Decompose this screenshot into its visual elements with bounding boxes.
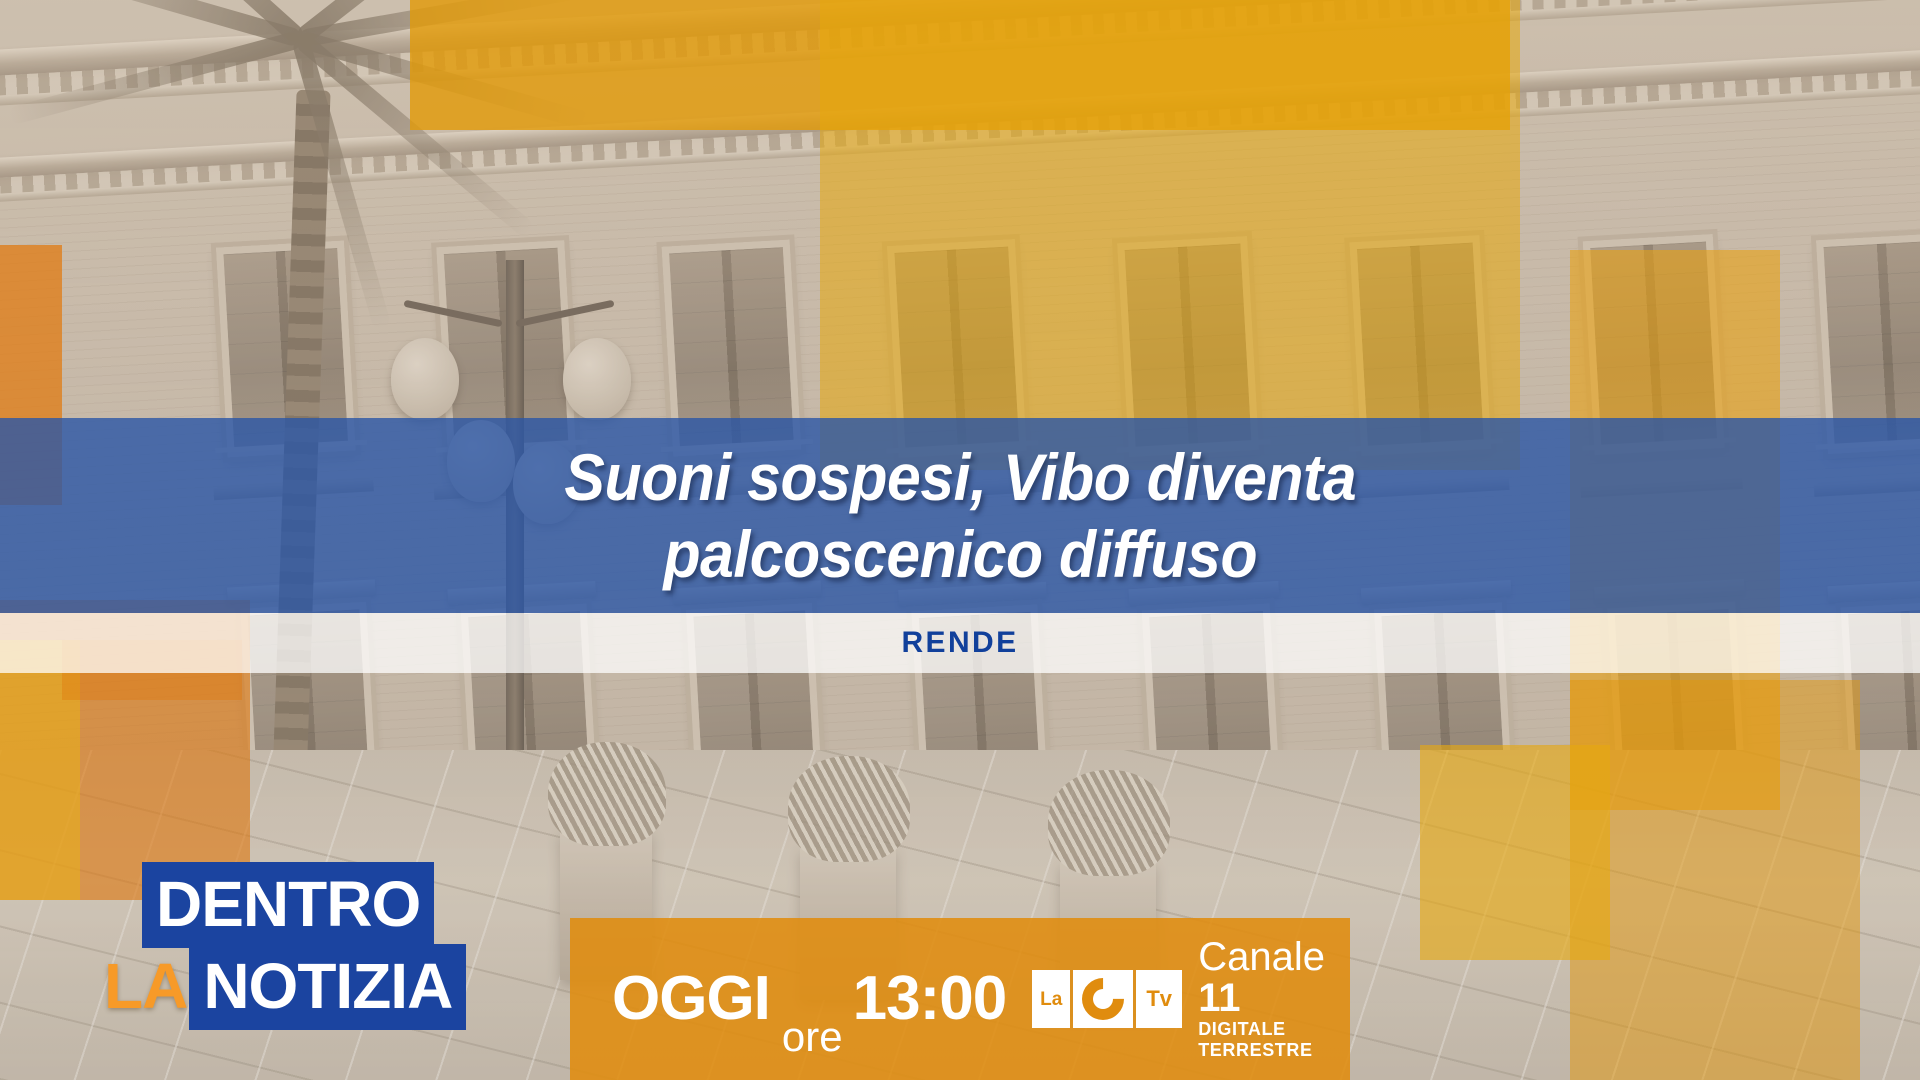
logo-word-notizia: NOTIZIA (189, 944, 466, 1030)
network-logo-c-icon (1073, 969, 1132, 1028)
channel-info: Canale 11 DIGITALE TERRESTRE (1198, 937, 1350, 1062)
planter-bush (788, 756, 910, 862)
location-band: RENDE (0, 613, 1920, 673)
headline-banner: Suoni sospesi, Vibo diventa palcoscenico… (0, 418, 1920, 613)
channel-number: 11 (1198, 976, 1240, 1020)
logo-row-bottom: LA NOTIZIA (104, 944, 466, 1030)
network-logo-la-box: La (1032, 970, 1070, 1028)
location-label: RENDE (901, 626, 1018, 660)
schedule-bar: OGGI ore 13:00 La Tv Canale 11 DIG (570, 918, 1350, 1080)
headline-line-2: palcoscenico diffuso (564, 516, 1356, 593)
channel-subtitle: DIGITALE TERRESTRE (1198, 1019, 1350, 1061)
network-logo-c-box (1073, 970, 1133, 1028)
headline-line-1: Suoni sospesi, Vibo diventa (564, 439, 1356, 516)
channel-name: Canale (1198, 935, 1325, 979)
logo-word-la: LA (104, 944, 189, 1030)
network-logo-tv-box: Tv (1136, 970, 1182, 1028)
logo-row-top: DENTRO (142, 862, 466, 948)
logo-word-dentro: DENTRO (142, 862, 434, 948)
schedule-day: OGGI (612, 968, 770, 1030)
schedule-time-prefix: ore (782, 1016, 843, 1061)
channel-line: Canale 11 (1198, 937, 1350, 1019)
network-logo-la-text: La (1040, 990, 1062, 1009)
schedule-time: 13:00 (853, 968, 1007, 1030)
planter-bush (1048, 770, 1170, 876)
broadcast-graphic: Suoni sospesi, Vibo diventa palcoscenico… (0, 0, 1920, 1080)
network-logo: La Tv (1032, 970, 1182, 1028)
network-logo-tv-text: Tv (1146, 988, 1172, 1010)
program-logo: DENTRO LA NOTIZIA (104, 862, 466, 1030)
headline-text: Suoni sospesi, Vibo diventa palcoscenico… (527, 439, 1392, 592)
planter-bush (548, 742, 666, 846)
